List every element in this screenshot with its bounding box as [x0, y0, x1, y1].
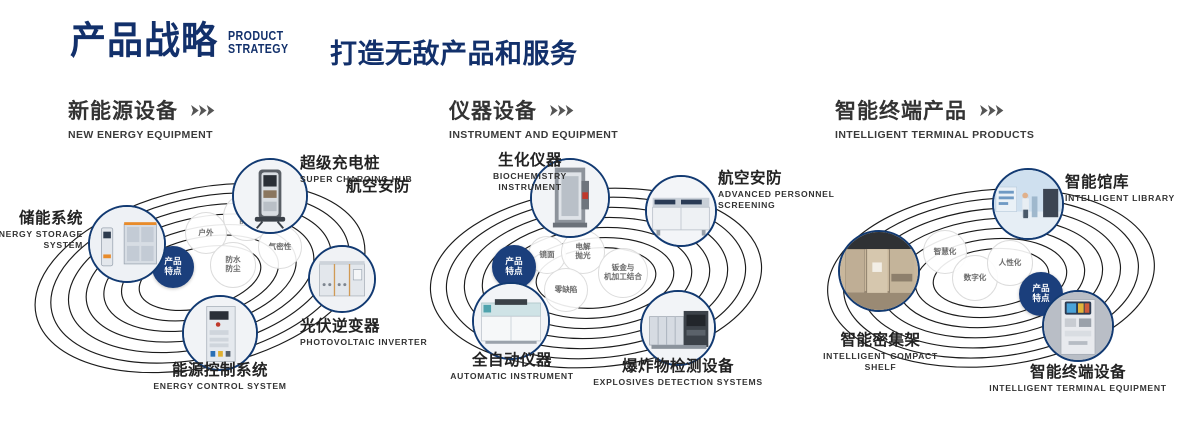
- node-label-cn: 智能密集架: [793, 332, 968, 350]
- page-title-en-line2: STRATEGY: [228, 41, 289, 56]
- node-label-automatic-instrument: 全自动仪器 AUTOMATIC INSTRUMENT: [422, 352, 602, 382]
- section-title-cn: 仪器设备: [449, 95, 537, 125]
- node-energy-control-system[interactable]: [182, 295, 258, 371]
- node-label-cn: 全自动仪器: [422, 352, 602, 370]
- node-intelligent-compact-shelf[interactable]: [838, 230, 920, 312]
- feature-label: 镜面: [539, 251, 554, 260]
- node-label-en: ENERGY STORAGESYSTEM: [0, 229, 83, 250]
- section-title-en: INTELLIGENT TERMINAL PRODUCTS: [835, 129, 1034, 141]
- feature-bubble: 钣金与机加工结合: [598, 248, 648, 298]
- node-label-cn: 储能系统: [0, 210, 83, 228]
- node-label-energy-control-system: 能源控制系统 ENERGY CONTROL SYSTEM: [85, 362, 355, 392]
- feature-bubble: 防水防尘: [210, 242, 256, 288]
- feature-label: 智慧化: [934, 248, 957, 257]
- library-interior-icon: [994, 170, 1062, 238]
- node-super-charging-hub[interactable]: [232, 158, 308, 234]
- chevron-right-triple-icon: ➤➤➤: [979, 99, 1002, 120]
- explosive-detector-icon: [642, 292, 714, 364]
- node-label-cn: 航空安防: [280, 178, 410, 196]
- feature-label: 气密性: [269, 243, 292, 252]
- section-title-en: INSTRUMENT AND EQUIPMENT: [449, 129, 618, 141]
- product-strategy-infographic: 产品战略 PRODUCT STRATEGY 打造无敌产品和服务 新能源设备 ➤➤…: [0, 0, 1200, 422]
- screening-machine-icon: [647, 177, 715, 245]
- node-label-en: INTELLIGENT COMPACTSHELF: [793, 351, 968, 372]
- section-header-instrument: 仪器设备 ➤➤➤ INSTRUMENT AND EQUIPMENT: [449, 95, 618, 141]
- node-label-cn: 生化仪器: [440, 152, 620, 170]
- node-label-biochemistry-instrument: 生化仪器 BIOCHEMISTRYINSTRUMENT: [440, 152, 620, 192]
- node-photovoltaic-inverter[interactable]: [308, 245, 376, 313]
- feature-bubble: 零缺陷: [544, 268, 588, 312]
- node-label-en: AUTOMATIC INSTRUMENT: [422, 371, 602, 382]
- node-label-cn: 超级充电桩: [300, 155, 412, 173]
- section-header-new-energy: 新能源设备 ➤➤➤ NEW ENERGY EQUIPMENT: [68, 95, 216, 141]
- feature-label: 产品特点: [164, 257, 181, 277]
- page-slogan: 打造无敌产品和服务: [330, 32, 578, 71]
- node-label-en: ENERGY CONTROL SYSTEM: [85, 381, 355, 392]
- node-advanced-personnel-screening[interactable]: [645, 175, 717, 247]
- node-label-en: INTELLIGENT TERMINAL EQUIPMENT: [968, 383, 1188, 394]
- node-label-intelligent-library: 智能馆库 INTELLIGENT LIBRARY: [1065, 174, 1175, 204]
- section-title-cn: 新能源设备: [68, 95, 178, 125]
- compact-shelving-icon: [840, 232, 918, 310]
- feature-label: 户外: [198, 229, 213, 238]
- feature-label: 防水防尘: [225, 256, 240, 273]
- node-label-cn: 能源控制系统: [85, 362, 355, 380]
- chevron-right-triple-icon: ➤➤➤: [549, 99, 572, 120]
- node-label-en: BIOCHEMISTRYINSTRUMENT: [440, 171, 620, 192]
- node-energy-storage-system[interactable]: [88, 205, 166, 283]
- node-label-energy-storage-system: 储能系统 ENERGY STORAGESYSTEM: [0, 210, 83, 250]
- node-label-cn: 智能馆库: [1065, 174, 1175, 192]
- node-label-aviation-security: 航空安防: [280, 178, 410, 196]
- self-service-kiosk-icon: [1044, 292, 1112, 360]
- page-title-en: PRODUCT STRATEGY: [228, 29, 289, 55]
- feature-label: 产品特点: [505, 257, 522, 277]
- energy-storage-cabinet-icon: [90, 207, 164, 281]
- feature-label: 电解抛光: [575, 243, 590, 260]
- node-intelligent-library[interactable]: [992, 168, 1064, 240]
- feature-label: 钣金与机加工结合: [604, 264, 642, 281]
- node-intelligent-terminal-equipment[interactable]: [1042, 290, 1114, 362]
- section-header-intelligent-terminal: 智能终端产品 ➤➤➤ INTELLIGENT TERMINAL PRODUCTS: [835, 95, 1034, 141]
- node-label-intelligent-compact-shelf: 智能密集架 INTELLIGENT COMPACTSHELF: [793, 332, 968, 372]
- feature-label: 数字化: [964, 274, 987, 283]
- node-explosives-detection-systems[interactable]: [640, 290, 716, 366]
- page-title-cn: 产品战略: [70, 22, 218, 60]
- node-label-cn: 智能终端设备: [968, 364, 1188, 382]
- section-title-en: NEW ENERGY EQUIPMENT: [68, 129, 216, 141]
- cluster-intelligent-terminal: 智慧化 数字化 人性化 产品特点: [795, 150, 1195, 410]
- charging-pile-icon: [234, 160, 306, 232]
- feature-label: 零缺陷: [555, 286, 578, 295]
- node-automatic-instrument[interactable]: [472, 282, 550, 360]
- pv-inverter-cabinet-icon: [310, 247, 374, 311]
- automatic-analyzer-icon: [474, 284, 548, 358]
- node-label-intelligent-terminal-equipment: 智能终端设备 INTELLIGENT TERMINAL EQUIPMENT: [968, 364, 1188, 394]
- section-title-cn: 智能终端产品: [835, 95, 967, 125]
- chevron-right-triple-icon: ➤➤➤: [190, 99, 213, 120]
- feature-label: 人性化: [999, 259, 1022, 268]
- page-title: 产品战略 PRODUCT STRATEGY: [70, 24, 302, 60]
- control-cabinet-icon: [184, 297, 256, 369]
- node-label-en: INTELLIGENT LIBRARY: [1065, 193, 1175, 204]
- cluster-instrument: 航空安防 镜面 电解抛光 钣金与机加工结合 零缺陷 产品特点: [400, 150, 800, 410]
